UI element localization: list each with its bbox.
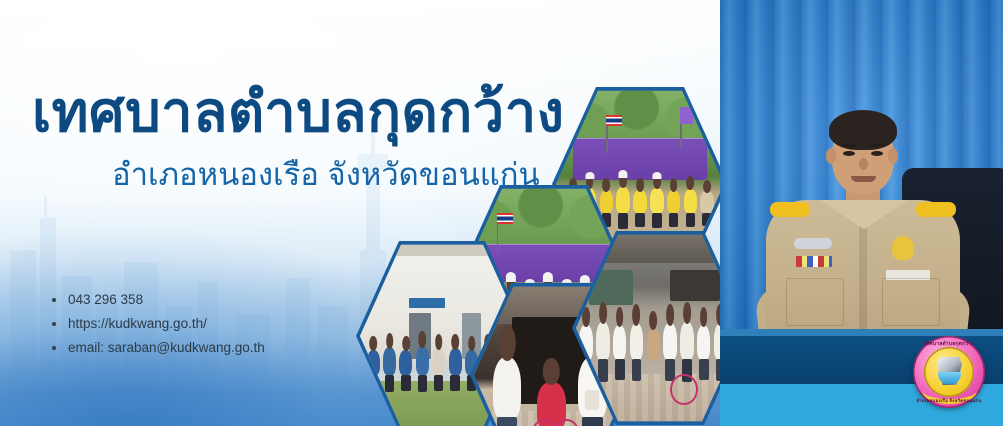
wing-badge-icon — [794, 238, 832, 249]
bullet-dot-icon — [52, 298, 56, 302]
contact-website-text[interactable]: https://kudkwang.go.th/ — [68, 316, 207, 331]
epaulette-left-icon — [770, 202, 810, 217]
mayor-figure — [760, 96, 966, 340]
ribbon-bar-icon — [796, 256, 832, 267]
bullet-dot-icon — [52, 346, 56, 350]
hexagon-photo-collage — [348, 78, 740, 426]
contact-list: 043 296 358 https://kudkwang.go.th/ emai… — [50, 292, 265, 364]
contact-item-email[interactable]: email: saraban@kudkwang.go.th — [50, 340, 265, 355]
website-header-banner: เทศบาลตำบลกุดกว้าง อำเภอหนองเรือ จังหวัด… — [0, 0, 1003, 426]
contact-email-text[interactable]: email: saraban@kudkwang.go.th — [68, 340, 265, 355]
seal-text-bottom: อำเภอหนองเรือ จังหวัดขอนแก่น — [913, 397, 985, 404]
bullet-dot-icon — [52, 322, 56, 326]
contact-item-phone: 043 296 358 — [50, 292, 265, 307]
contact-phone-text: 043 296 358 — [68, 292, 143, 307]
municipal-seal[interactable]: เทศบาลตำบลกุดกว้าง อำเภอหนองเรือ จังหวัด… — [913, 336, 985, 408]
epaulette-right-icon — [916, 202, 956, 217]
contact-item-website[interactable]: https://kudkwang.go.th/ — [50, 316, 265, 331]
crest-badge-icon — [892, 236, 914, 260]
